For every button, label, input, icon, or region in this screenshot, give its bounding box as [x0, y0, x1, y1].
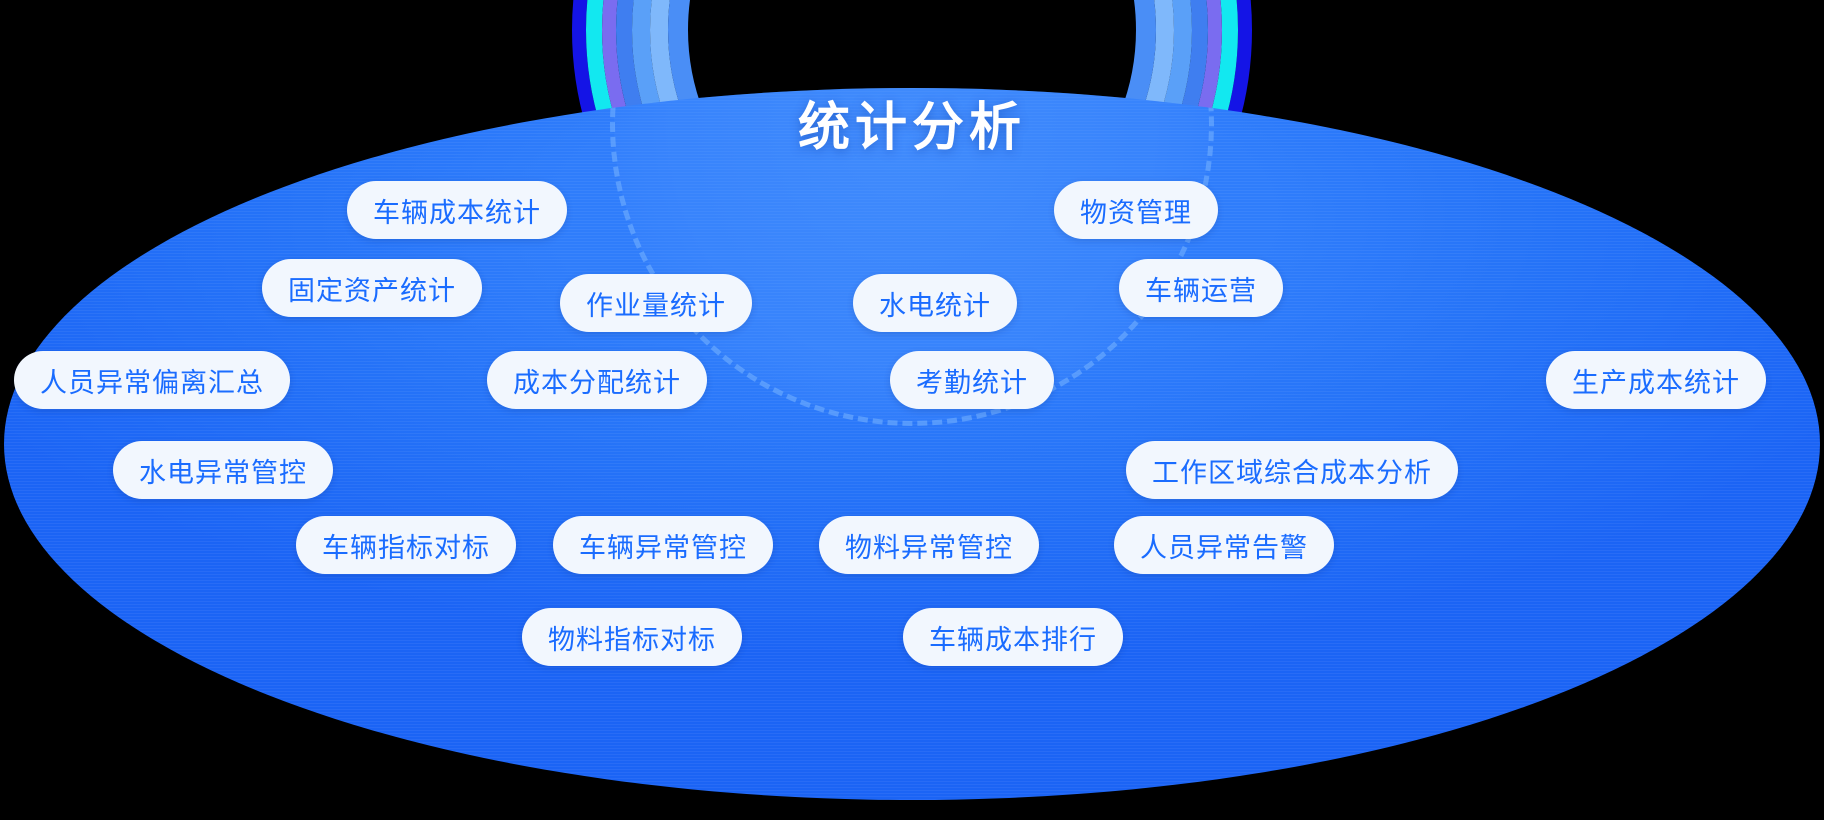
pill-materials-management[interactable]: 物资管理: [1054, 181, 1218, 239]
pill-vehicle-indicator-benchmark[interactable]: 车辆指标对标: [296, 516, 516, 574]
pill-vehicle-operations[interactable]: 车辆运营: [1119, 259, 1283, 317]
pill-material-indicator-benchmark[interactable]: 物料指标对标: [522, 608, 742, 666]
pill-cost-allocation-statistics[interactable]: 成本分配统计: [487, 351, 707, 409]
pill-workload-statistics[interactable]: 作业量统计: [560, 274, 752, 332]
pill-production-cost-statistics[interactable]: 生产成本统计: [1546, 351, 1766, 409]
pill-vehicle-anomaly-control[interactable]: 车辆异常管控: [553, 516, 773, 574]
page-title: 统计分析: [0, 102, 1824, 154]
pill-vehicle-cost-statistics[interactable]: 车辆成本统计: [347, 181, 567, 239]
pill-work-area-cost-analysis[interactable]: 工作区域综合成本分析: [1126, 441, 1458, 499]
pill-vehicle-cost-ranking[interactable]: 车辆成本排行: [903, 608, 1123, 666]
pill-attendance-statistics[interactable]: 考勤统计: [890, 351, 1054, 409]
pill-material-anomaly-control[interactable]: 物料异常管控: [819, 516, 1039, 574]
pill-utility-anomaly-control[interactable]: 水电异常管控: [113, 441, 333, 499]
pill-personnel-anomaly-alert[interactable]: 人员异常告警: [1114, 516, 1334, 574]
pill-utility-statistics[interactable]: 水电统计: [853, 274, 1017, 332]
pill-fixed-asset-statistics[interactable]: 固定资产统计: [262, 259, 482, 317]
pill-personnel-deviation-summary[interactable]: 人员异常偏离汇总: [14, 351, 290, 409]
statistics-analysis-diagram: 统计分析 车辆成本统计物资管理固定资产统计作业量统计水电统计车辆运营人员异常偏离…: [0, 0, 1824, 820]
